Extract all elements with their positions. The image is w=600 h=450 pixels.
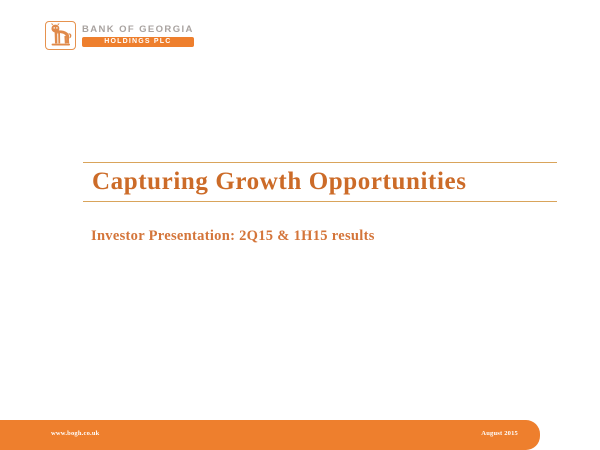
title-block: Capturing Growth Opportunities [83,162,557,202]
footer-bar: www.bogh.co.uk August 2015 [0,420,540,450]
logo-entity-bar: HOLDINGS PLC [82,37,194,47]
page-subtitle: Investor Presentation: 2Q15 & 1H15 resul… [91,228,375,245]
lion-icon [45,21,76,50]
title-slide: BANK OF GEORGIA HOLDINGS PLC Capturing G… [0,0,600,450]
company-logo: BANK OF GEORGIA HOLDINGS PLC [45,21,194,50]
page-title: Capturing Growth Opportunities [83,163,557,201]
title-rule-bottom [83,201,557,202]
logo-wordmark: BANK OF GEORGIA HOLDINGS PLC [82,24,194,47]
logo-entity-suffix: HOLDINGS PLC [85,38,191,46]
logo-company-name: BANK OF GEORGIA [82,24,194,35]
footer-date: August 2015 [481,430,518,437]
footer-website-link[interactable]: www.bogh.co.uk [51,430,100,437]
